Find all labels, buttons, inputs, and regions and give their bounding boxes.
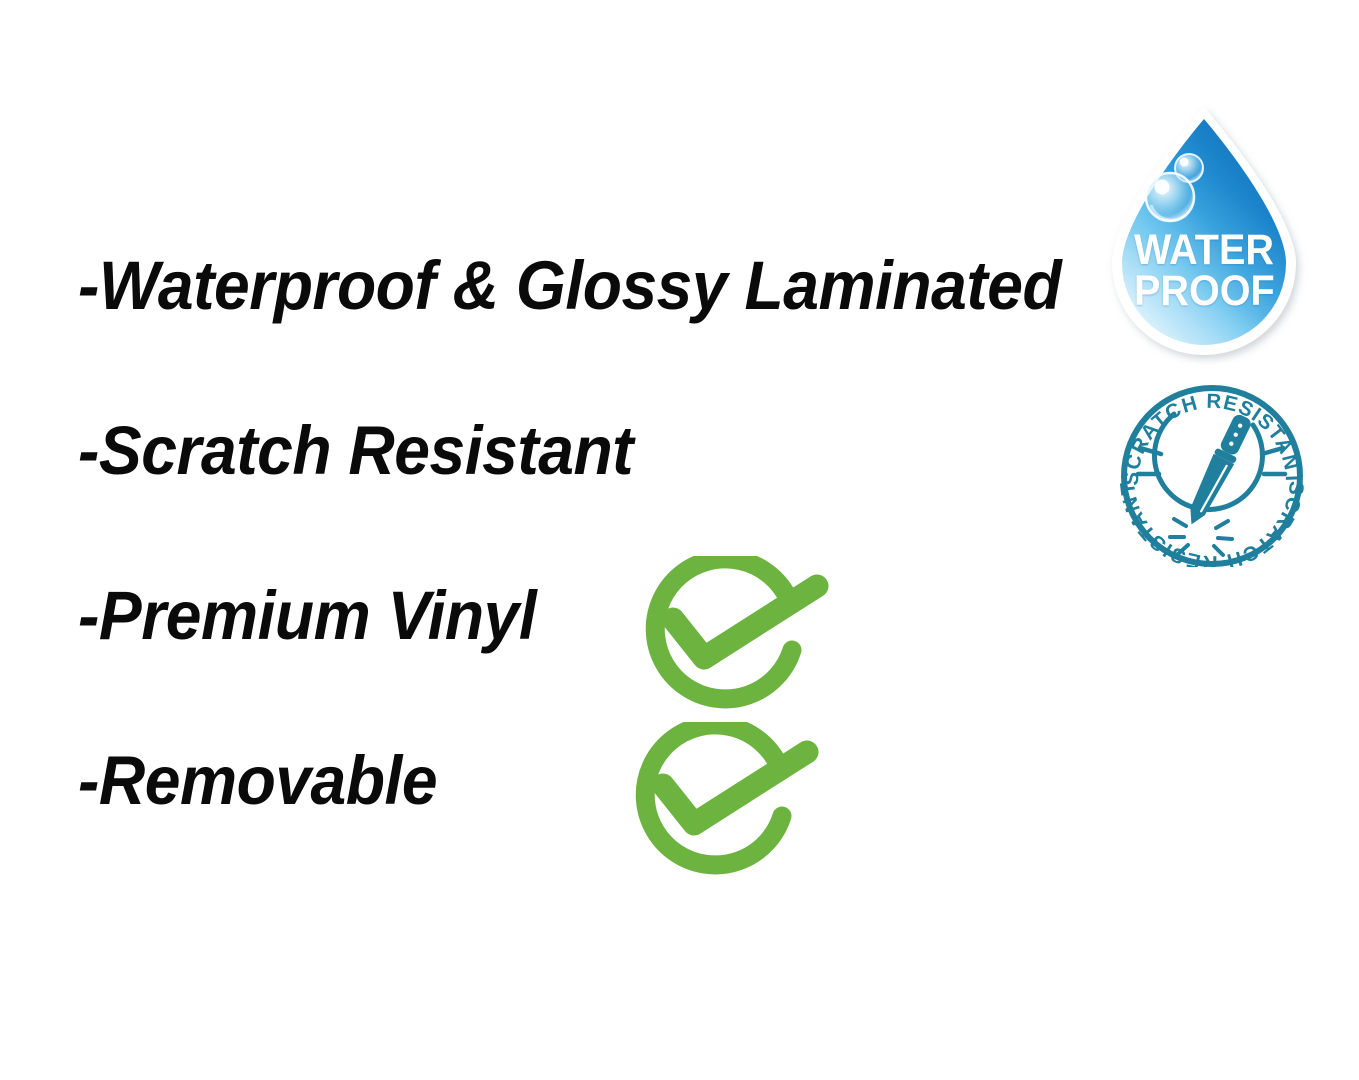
check-circle-icon xyxy=(631,722,821,878)
list-item: -Scratch Resistant xyxy=(78,413,1088,578)
scratch-resistant-badge: SCRATCH RESISTANT SCRATCH RESISTANT xyxy=(1112,382,1312,567)
drop-sheen xyxy=(1122,119,1286,345)
check-circle-removable xyxy=(631,722,821,883)
knife-icon xyxy=(1182,412,1255,530)
feature-highlight-graphic: -Waterproof & Glossy Laminated -Scratch … xyxy=(0,0,1359,1080)
check-circle-icon xyxy=(641,556,831,712)
feature-text-removable: -Removable xyxy=(78,743,437,819)
feature-text-premium-vinyl: -Premium Vinyl xyxy=(78,578,536,654)
check-circle-premium-vinyl xyxy=(641,556,831,717)
waterproof-badge: WATER PROOF xyxy=(1098,103,1310,365)
knife-seal-icon: SCRATCH RESISTANT SCRATCH RESISTANT xyxy=(1112,382,1312,567)
list-item: -Removable xyxy=(78,743,1088,908)
feature-text-waterproof-glossy-laminated: -Waterproof & Glossy Laminated xyxy=(78,248,1061,324)
water-bubble-large-icon xyxy=(1146,173,1194,221)
feature-list: -Waterproof & Glossy Laminated -Scratch … xyxy=(78,248,1088,908)
water-bubble-small-highlight xyxy=(1180,158,1189,167)
list-item: -Premium Vinyl xyxy=(78,578,1088,743)
water-drop-icon xyxy=(1098,103,1310,365)
list-item: -Waterproof & Glossy Laminated xyxy=(78,248,1088,413)
water-bubble-large-highlight xyxy=(1155,180,1170,195)
feature-text-scratch-resistant: -Scratch Resistant xyxy=(78,413,633,489)
